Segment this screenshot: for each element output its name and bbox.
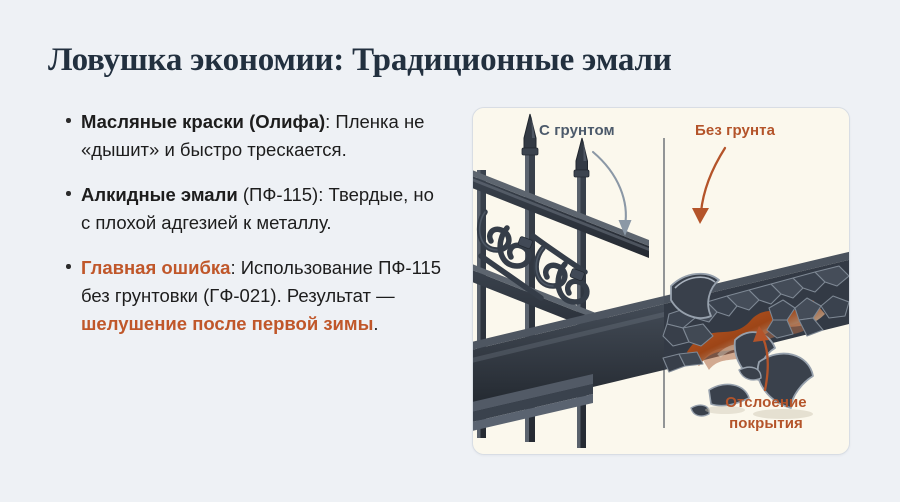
page-title: Ловушка экономии: Традиционные эмали [48, 40, 858, 80]
illustration-panel: С грунтом Без грунта Отслоение покрытия [472, 107, 850, 455]
list-item: Масляные краски (Олифа): Пленка не «дыши… [64, 108, 444, 164]
bullet-list: Масляные краски (Олифа): Пленка не «дыши… [64, 108, 444, 338]
bullet-lead: Масляные краски (Олифа) [81, 111, 325, 132]
bullet-dot-icon [66, 264, 71, 269]
bullet-dot-icon [66, 118, 71, 123]
bullet-lead-tail: (ПФ-115) [238, 184, 318, 205]
bullet-lead-accent: Главная ошибка [81, 257, 230, 278]
label-coating-peeling: Отслоение покрытия [701, 392, 831, 434]
bullet-accent-tail: шелушение после первой зимы [81, 313, 373, 334]
bullet-dot-icon [66, 191, 71, 196]
bullet-end: . [373, 313, 378, 334]
list-item: Алкидные эмали (ПФ-115): Твердые, но с п… [64, 181, 444, 237]
label-without-primer: Без грунта [695, 122, 775, 139]
slide-canvas: Ловушка экономии: Традиционные эмали Мас… [0, 0, 900, 502]
list-item: Главная ошибка: Использование ПФ-115 без… [64, 254, 444, 338]
label-with-primer: С грунтом [539, 122, 615, 139]
bullet-lead: Алкидные эмали [81, 184, 238, 205]
